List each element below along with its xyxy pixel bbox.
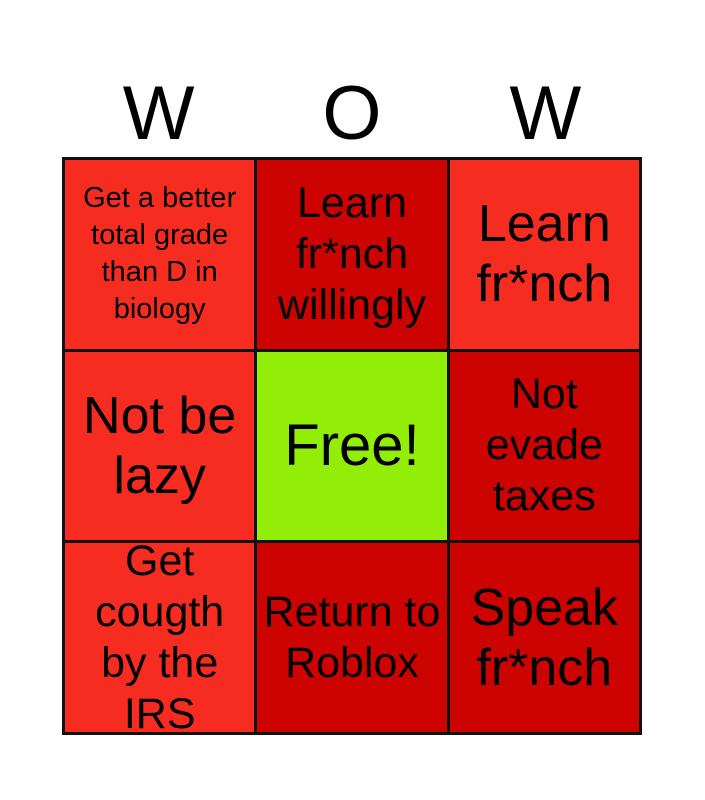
bingo-cell-r1c1[interactable]: Get a better total grade than D in biolo… bbox=[65, 160, 254, 349]
bingo-cell-label: Get a better total grade than D in biolo… bbox=[69, 180, 250, 328]
bingo-grid: Get a better total grade than D in biolo… bbox=[62, 157, 642, 735]
bingo-cell-r2c1[interactable]: Not be lazy bbox=[65, 352, 254, 541]
bingo-cell-label: Learn fr*nch willingly bbox=[261, 178, 442, 331]
bingo-cell-label: Not evade taxes bbox=[454, 369, 635, 522]
bingo-cell-label: Return to Roblox bbox=[261, 587, 442, 689]
bingo-header: W O W bbox=[62, 58, 642, 154]
header-letter-3: W bbox=[449, 74, 642, 154]
bingo-cell-r3c2[interactable]: Return to Roblox bbox=[257, 543, 446, 732]
bingo-cell-free[interactable]: Free! bbox=[257, 352, 446, 541]
header-letter-2: O bbox=[255, 74, 448, 154]
bingo-cell-r1c2[interactable]: Learn fr*nch willingly bbox=[257, 160, 446, 349]
bingo-cell-r1c3[interactable]: Learn fr*nch bbox=[450, 160, 639, 349]
bingo-free-label: Free! bbox=[261, 414, 442, 478]
bingo-cell-r3c3[interactable]: Speak fr*nch bbox=[450, 543, 639, 732]
header-letter-1: W bbox=[62, 74, 255, 154]
bingo-cell-label: Get cougth by the IRS bbox=[69, 543, 250, 732]
bingo-cell-r3c1[interactable]: Get cougth by the IRS bbox=[65, 543, 254, 732]
bingo-cell-label: Speak fr*nch bbox=[454, 578, 635, 698]
bingo-card: W O W Get a better total grade than D in… bbox=[0, 0, 705, 800]
bingo-cell-label: Learn fr*nch bbox=[454, 194, 635, 314]
bingo-cell-r2c3[interactable]: Not evade taxes bbox=[450, 352, 639, 541]
bingo-cell-label: Not be lazy bbox=[69, 386, 250, 506]
